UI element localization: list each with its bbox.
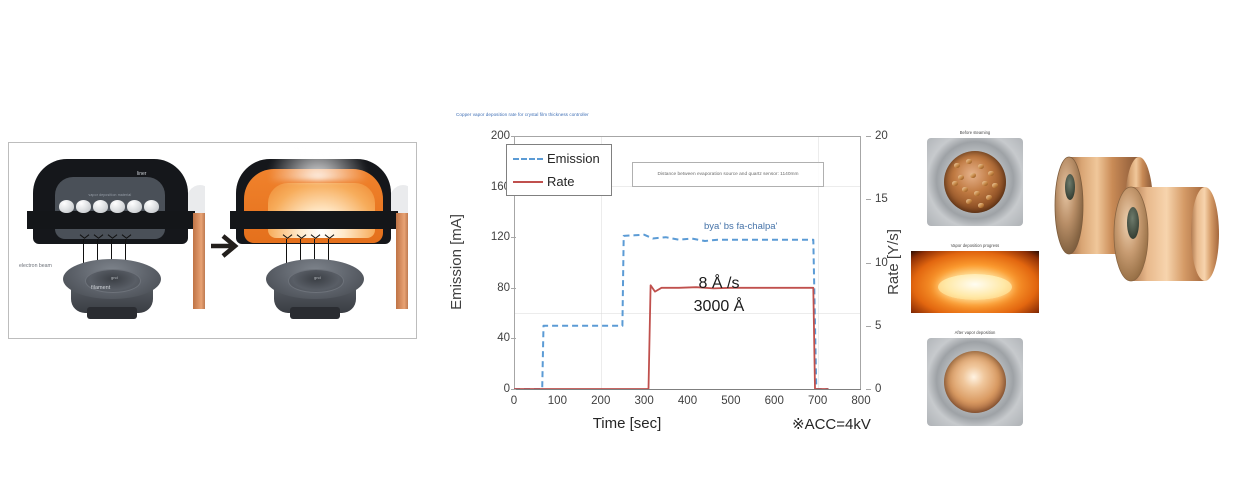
legend-line-icon: [513, 181, 543, 183]
molten-pool: [938, 274, 1012, 300]
deposition-rate-chart: Copper vapor deposition rate for crystal…: [452, 112, 897, 442]
y2-tick-label: 20: [875, 130, 915, 142]
source-cap-bar: [230, 211, 398, 229]
evaporation-source-hot: [236, 159, 391, 244]
crucible-before-image: [927, 138, 1023, 226]
filament-base-cold: filament: [63, 259, 161, 319]
x-tick-label: 800: [851, 395, 870, 407]
copper-roll-front: [1114, 187, 1219, 281]
gnd-label: gnd: [111, 275, 118, 280]
vapor-plume: [270, 147, 366, 181]
x-tick-label: 300: [635, 395, 654, 407]
y-tick-label: 120: [464, 231, 510, 243]
y2-tick-mark: [866, 389, 871, 390]
y-axis-left-ticks: 04080120160200: [462, 136, 510, 389]
y2-tick-mark: [866, 263, 871, 264]
material-pellets: [59, 199, 159, 213]
process-photo-column: Before steaming Vapor deposition progre: [910, 130, 1040, 450]
x-tick-label: 200: [591, 395, 610, 407]
y2-tick-mark: [866, 136, 871, 137]
y-tick-mark: [511, 288, 516, 289]
plot-bottom-axis: [514, 389, 861, 390]
source-cap-bar: [27, 211, 195, 229]
base-foot: [290, 307, 340, 319]
diagram-stage-hot: gnd: [218, 147, 408, 334]
y2-tick-label: 0: [875, 383, 915, 395]
y-tick-label: 200: [464, 130, 510, 142]
pellet: [76, 200, 91, 213]
y-tick-mark: [511, 338, 516, 339]
copper-side-pipe: [396, 213, 408, 309]
crucible-dish: [944, 351, 1006, 413]
crucible-dish: [944, 151, 1006, 213]
copper-foil-rolls-image: [1045, 143, 1235, 313]
photo-after-evaporation: After vapor deposition: [910, 330, 1040, 426]
x-axis-label: Time [sec]: [593, 415, 662, 432]
y2-tick-label: 15: [875, 193, 915, 205]
pellet: [59, 200, 74, 213]
y-tick-label: 40: [464, 332, 510, 344]
y-tick-label: 160: [464, 181, 510, 193]
legend-dash-icon: [513, 158, 543, 160]
photo-caption: After vapor deposition: [910, 330, 1040, 335]
rate-thickness-annotation: 8 Å /s 3000 Å: [664, 272, 774, 318]
x-tick-label: 400: [678, 395, 697, 407]
gnd-label: gnd: [314, 275, 321, 280]
legend-item-rate: Rate: [513, 174, 611, 189]
photo-caption: Before steaming: [910, 130, 1040, 135]
vapor-deposition-material-label: vapor deposition material: [55, 193, 165, 197]
blue-annotation-note: bya' bs fa-chalpa': [704, 221, 777, 232]
filament-base-hot: [266, 259, 364, 319]
y2-tick-mark: [866, 326, 871, 327]
legend-item-emission: Emission: [513, 151, 611, 166]
electron-beam-label: electron beam: [19, 263, 52, 269]
y-tick-mark: [511, 389, 516, 390]
chart-title: Copper vapor deposition rate for crystal…: [456, 112, 589, 117]
y-tick-mark: [511, 237, 516, 238]
electron-beam-source-diagram-panel: vapor deposition material liner electron…: [8, 142, 417, 339]
photo-before-evaporation: Before steaming: [910, 130, 1040, 226]
chart-legend: Emission Rate: [506, 144, 612, 196]
pellet: [110, 200, 125, 213]
photo-caption: Vapor deposition progress: [910, 243, 1040, 248]
y-tick-label: 0: [464, 383, 510, 395]
base-foot: [87, 307, 137, 319]
x-tick-label: 500: [721, 395, 740, 407]
acc-voltage-note: ※ACC=4kV: [792, 415, 871, 433]
y-axis-right-label: Rate [Y/s]: [885, 229, 902, 295]
x-tick-label: 700: [808, 395, 827, 407]
molten-crucible-image: [911, 251, 1039, 313]
distance-annotation-box: Distance between evaporation source and …: [632, 162, 824, 187]
y-tick-mark: [511, 136, 516, 137]
copper-side-pipe: [193, 213, 205, 309]
y2-tick-label: 5: [875, 320, 915, 332]
liner-label: liner: [137, 171, 146, 177]
photo-during-evaporation: Vapor deposition progress: [910, 243, 1040, 313]
crucible-after-image: [927, 338, 1023, 426]
pellet: [144, 200, 159, 213]
filament-ring: [288, 269, 344, 293]
pellet: [127, 200, 142, 213]
x-tick-label: 0: [511, 395, 517, 407]
evaporation-source-cold: vapor deposition material liner: [33, 159, 188, 244]
thickness-value: 3000 Å: [664, 295, 774, 318]
pellet: [93, 200, 108, 213]
diagram-inner: vapor deposition material liner electron…: [13, 147, 412, 334]
x-axis-ticks: 0100200300400500600700800: [514, 395, 861, 411]
x-tick-label: 100: [548, 395, 567, 407]
legend-label-rate: Rate: [547, 174, 574, 189]
legend-label-emission: Emission: [547, 151, 600, 166]
diagram-stage-cold: vapor deposition material liner electron…: [15, 147, 205, 334]
x-tick-label: 600: [765, 395, 784, 407]
y2-tick-mark: [866, 199, 871, 200]
filament-label: filament: [91, 285, 110, 291]
y-tick-label: 80: [464, 282, 510, 294]
y-axis-left-label: Emission [mA]: [448, 214, 465, 310]
rate-value: 8 Å /s: [664, 272, 774, 295]
